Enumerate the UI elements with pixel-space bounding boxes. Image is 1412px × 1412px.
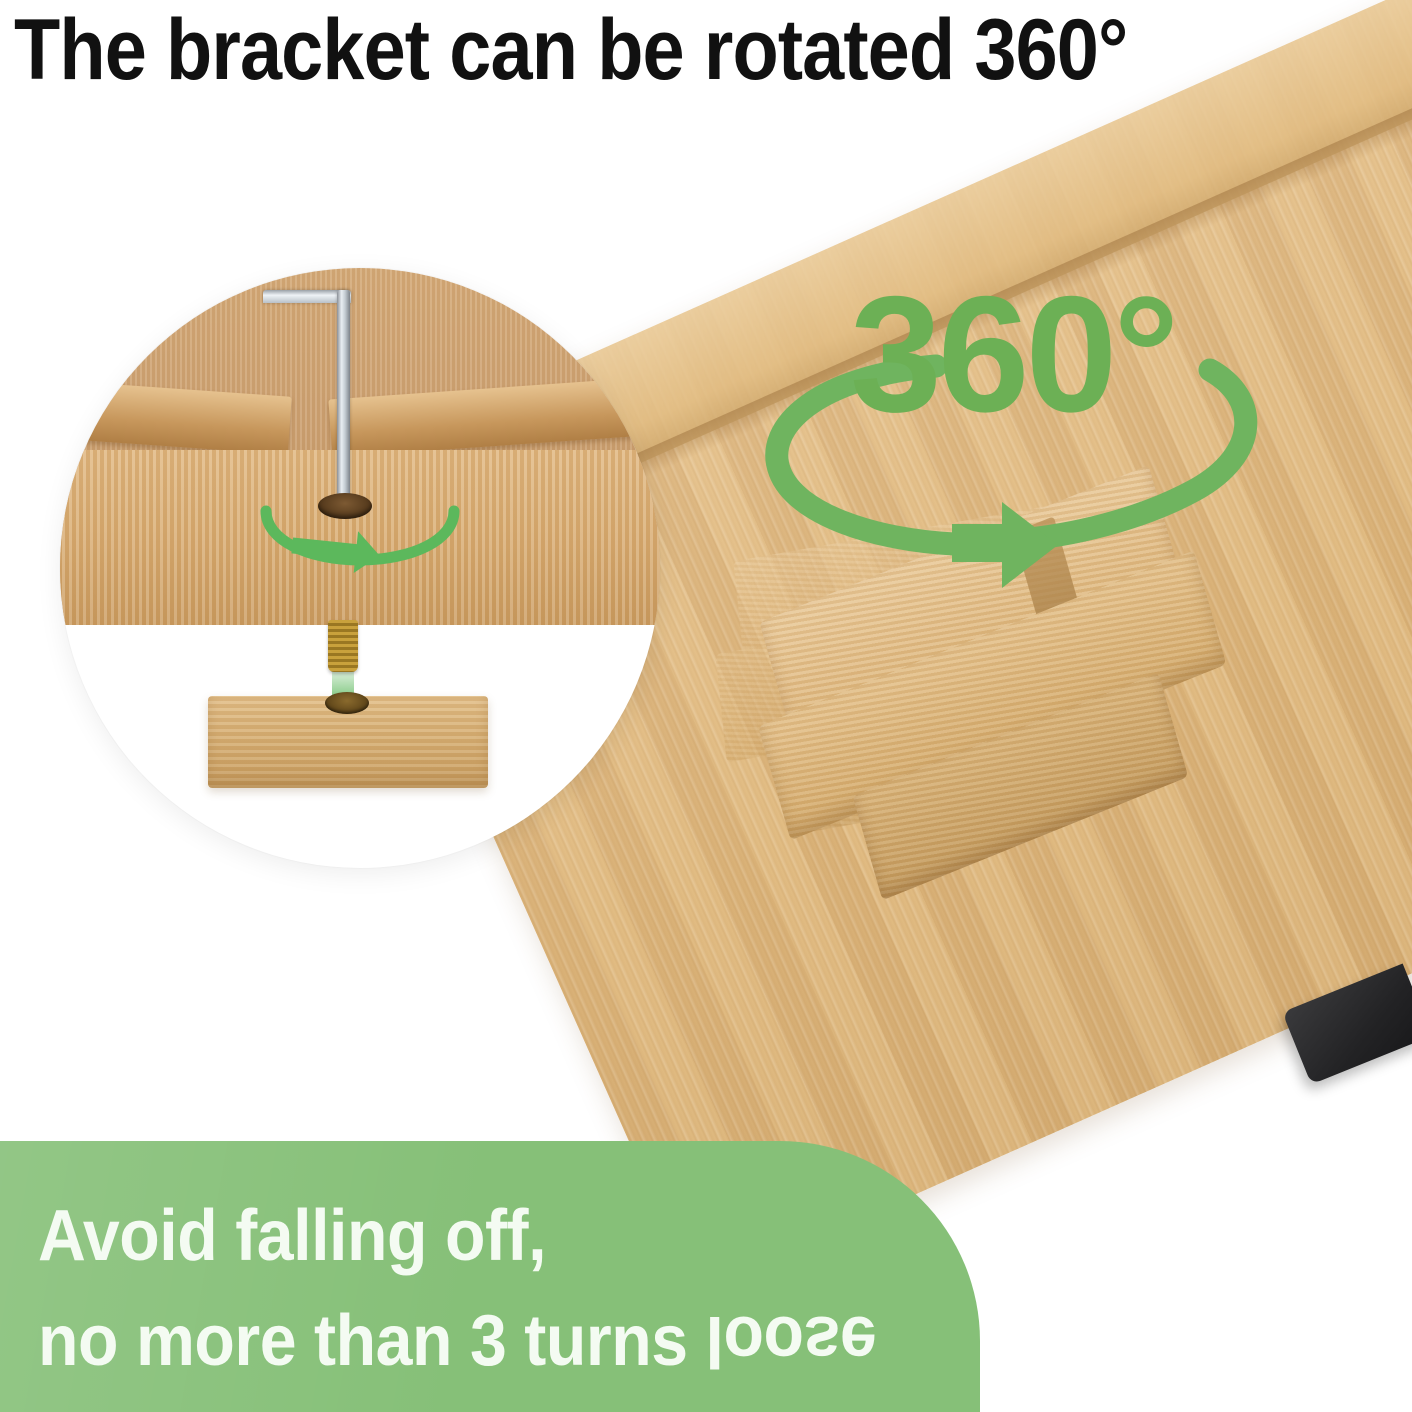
rotation-360-graphic: 360° — [740, 258, 1280, 608]
banner-line-2-prefix: no more than 3 turns — [38, 1301, 706, 1381]
infographic-canvas: The bracket can be rotated 360° — [0, 0, 1412, 1412]
screw-icon — [328, 620, 358, 672]
banner-line-2-flipped-word: loose — [706, 1300, 877, 1382]
banner-line-2: no more than 3 turns loose — [38, 1300, 876, 1382]
detail-inset-circle — [60, 268, 660, 868]
rotation-360-value: 360° — [850, 272, 1175, 437]
banner-line-1: Avoid falling off, — [38, 1195, 546, 1277]
bracket-block-threaded-hole — [325, 692, 369, 714]
rotation-arrow-icon — [266, 511, 454, 575]
